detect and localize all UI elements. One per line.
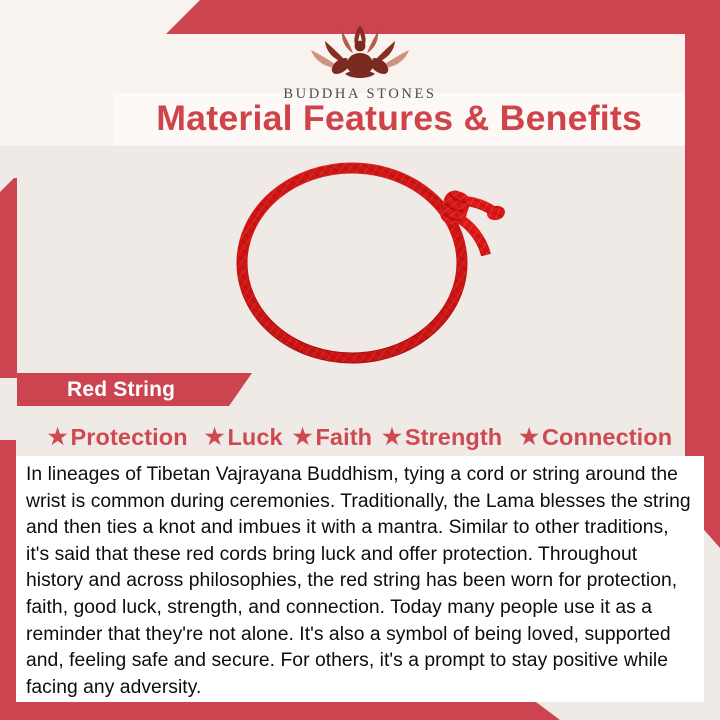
star-icon: ★	[205, 426, 225, 448]
benefit-label: Luck	[227, 424, 282, 451]
benefit-item-luck: ★ Luck	[205, 424, 283, 451]
description-paragraph: In lineages of Tibetan Vajrayana Buddhis…	[26, 462, 692, 701]
red-braided-string-bracelet-icon	[210, 155, 520, 370]
frame-left-bar-upper	[0, 178, 17, 378]
benefit-item-faith: ★ Faith	[293, 424, 372, 451]
star-icon: ★	[519, 426, 539, 448]
benefit-item-strength: ★ Strength	[382, 424, 502, 451]
product-image	[210, 155, 520, 370]
star-icon: ★	[293, 426, 313, 448]
benefit-label: Strength	[405, 424, 502, 451]
benefit-label: Connection	[542, 424, 672, 451]
brand-wordmark: BUDDHA STONES	[283, 86, 436, 103]
benefit-label: Faith	[315, 424, 372, 451]
product-name-ribbon: Red String	[17, 373, 252, 406]
brand-logo: BUDDHA STONES	[0, 22, 720, 103]
lotus-meditation-figure-icon	[301, 22, 419, 82]
benefits-row: ★ Protection ★ Luck ★ Faith ★ Strength ★…	[16, 418, 704, 456]
benefit-item-protection: ★ Protection	[48, 424, 188, 451]
frame-left-bar-lower	[0, 440, 16, 690]
star-icon: ★	[48, 426, 68, 448]
description-panel: In lineages of Tibetan Vajrayana Buddhis…	[16, 456, 704, 702]
product-name-label: Red String	[67, 378, 175, 402]
page-title: Material Features & Benefits	[156, 99, 642, 139]
star-icon: ★	[382, 426, 402, 448]
benefit-label: Protection	[71, 424, 188, 451]
benefit-item-connection: ★ Connection	[519, 424, 672, 451]
